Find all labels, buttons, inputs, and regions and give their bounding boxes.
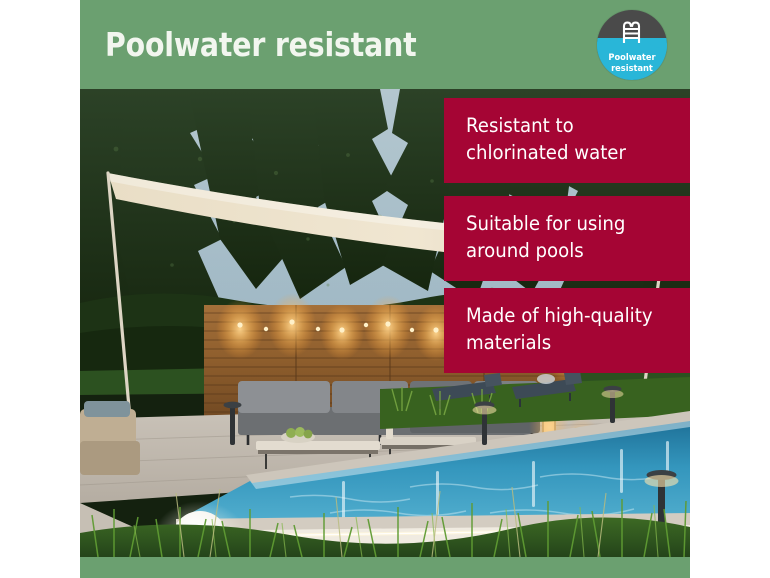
claim-1-line-2: chlorinated water (466, 139, 674, 166)
claim-1-line-1: Resistant to (466, 112, 674, 139)
badge-label-line2: resistant (600, 64, 664, 75)
pool-ladder-icon (619, 21, 645, 43)
claim-3-line-2: materials (466, 329, 674, 356)
poolwater-resistant-badge: Poolwater resistant (597, 10, 667, 80)
claim-box-1: Resistant to chlorinated water (444, 98, 690, 183)
badge-label-line1: Poolwater (600, 53, 664, 64)
claim-3-line-1: Made of high-quality (466, 302, 674, 329)
badge-label: Poolwater resistant (600, 53, 664, 74)
footer-band (80, 557, 690, 578)
claim-box-3: Made of high-quality materials (444, 288, 690, 373)
claim-2-line-1: Suitable for using (466, 210, 674, 237)
marketing-banner: Poolwater resistant Poolwater resistant (0, 0, 770, 578)
page-title: Poolwater resistant (105, 22, 449, 67)
claim-box-2: Suitable for using around pools (444, 196, 690, 281)
claim-2-line-2: around pools (466, 237, 674, 264)
